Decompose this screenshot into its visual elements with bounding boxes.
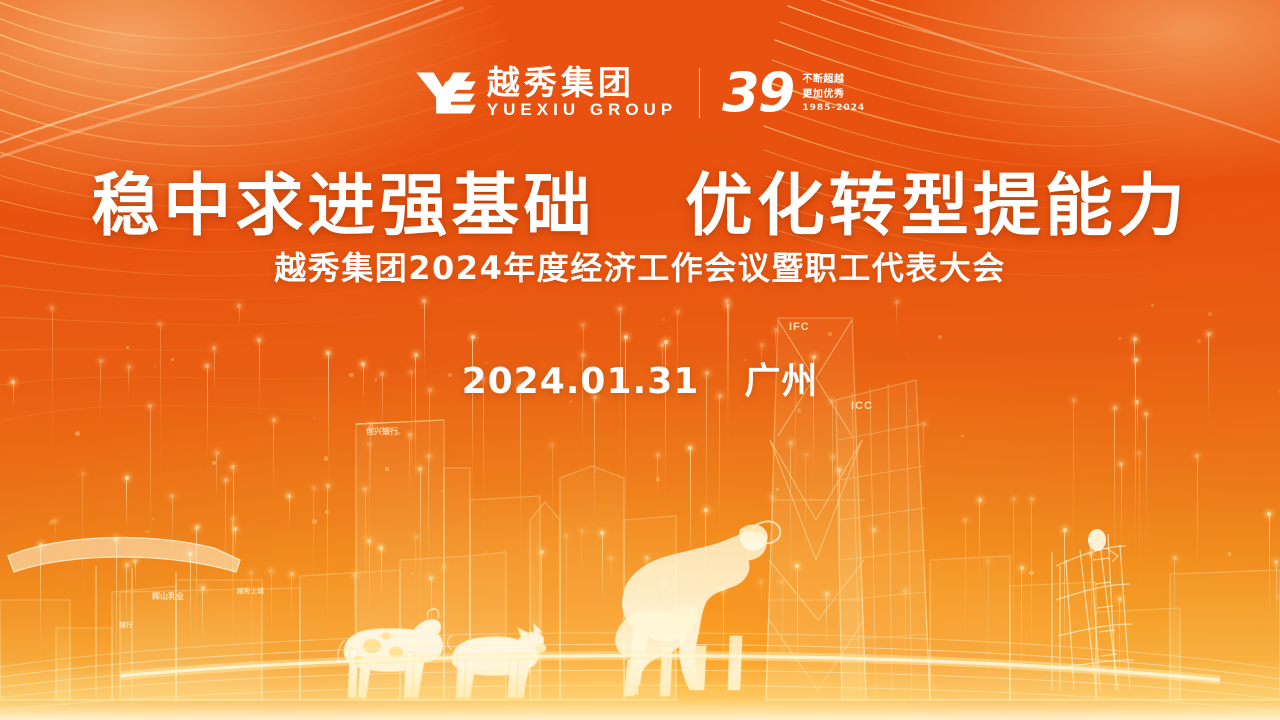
light-streak [126,565,127,661]
light-streak [873,530,874,585]
light-streak [690,448,691,617]
light-dot [776,488,779,491]
light-streak [369,541,370,638]
anniversary-number: 39 [722,69,793,118]
light-streak [719,396,720,570]
light-dot [196,524,200,528]
light-dot [961,435,964,438]
light-streak [1146,414,1147,563]
light-streak [369,444,370,596]
light-streak [135,561,136,595]
event-city: 广州 [744,361,818,402]
light-dot [656,477,661,482]
light-streak [313,488,314,624]
light-streak [235,529,236,556]
brand-name-en: YUEXIU GROUP [487,101,677,120]
light-dot [324,456,329,461]
light-streak [832,457,833,514]
light-streak [196,528,197,650]
light-dot [325,510,329,514]
light-streak [82,474,83,652]
light-streak [832,401,833,546]
light-streak [520,386,521,593]
light-streak [905,591,906,720]
brand-name-cn: 越秀集团 [487,66,677,100]
light-dot [146,530,150,534]
light-dot [1208,312,1212,316]
banner-canvas: IFC ICC 创兴银行 辉山乳业 越秀上城 越行 越秀集团 YUEXIU GR… [0,0,1280,720]
light-streak [271,571,272,657]
anniversary-badge: 39 不断超越 更加优秀 1985-2024 [722,69,865,118]
light-streak [782,582,783,720]
light-streak [839,470,840,647]
light-streak [896,302,897,337]
light-streak [541,552,542,720]
light-streak [1073,400,1074,615]
light-streak [805,455,806,658]
light-streak [790,443,791,650]
light-streak [1137,402,1138,449]
light-dot [810,498,812,500]
building-label-ifc: IFC [789,321,810,333]
light-dot [594,470,596,472]
light-streak [594,397,595,570]
light-streak [1269,514,1270,646]
light-dot [152,518,154,520]
light-dot [49,520,54,525]
light-streak [428,456,429,633]
light-streak [1064,530,1065,694]
light-dot [441,490,443,492]
light-dot [23,560,25,562]
yuexiu-logo: 越秀集团 YUEXIU GROUP [415,66,677,120]
light-streak [126,478,127,545]
light-streak [381,548,382,619]
brand-text-block: 越秀集团 YUEXIU GROUP [487,66,677,120]
light-streak [988,561,989,720]
light-dot [1197,339,1201,343]
ye-monogram-icon [415,70,477,116]
light-streak [55,521,56,551]
light-streak [705,510,706,640]
light-streak [965,520,966,684]
light-streak [160,324,161,495]
light-dot [212,461,216,465]
light-streak [327,486,328,663]
light-streak [552,445,553,563]
light-dot [662,318,665,321]
light-dot [938,335,942,339]
light-streak [657,455,658,523]
light-streak [761,582,762,614]
light-streak [602,533,603,623]
logo-divider [699,68,700,118]
light-streak [431,578,432,684]
light-streak [1021,568,1022,720]
light-streak [225,480,226,610]
event-date: 2024.01.31 [462,361,700,402]
light-streak [1197,456,1198,619]
light-streak [354,575,355,658]
light-dot [1119,337,1121,339]
event-subtitle: 越秀集团2024年度经济工作会议暨职工代表大会 [0,243,1280,289]
light-dot [385,467,388,470]
main-headline: 稳中求进强基础 优化转型提能力 [0,150,1280,249]
light-streak [443,567,444,649]
building-label-yuexing: 越行 [119,619,133,629]
light-streak [172,496,173,582]
anniversary-slogan: 不断超越 更加优秀 1985-2024 [802,71,865,114]
light-streak [216,453,217,517]
light-streak [1091,554,1092,700]
headline-part-2: 优化转型提能力 [685,167,1189,246]
light-dot [1029,571,1034,576]
light-streak [772,497,773,594]
light-streak [1121,464,1122,569]
light-dot [797,408,802,413]
light-streak [370,425,371,517]
light-streak [723,589,724,720]
light-streak [483,379,484,551]
light-streak [923,424,924,486]
light-streak [797,566,798,720]
light-dot [484,551,488,555]
light-streak [429,390,430,506]
light-streak [581,531,582,591]
light-streak [365,489,366,633]
light-dot [126,346,129,349]
light-streak [190,554,191,668]
building-label-chonghing-bank: 创兴银行 [366,426,398,437]
light-dot [579,477,581,479]
light-dot [312,519,316,523]
light-streak [409,435,410,516]
light-dot [411,572,414,575]
light-streak [1031,499,1032,712]
light-streak [116,539,117,720]
anniversary-years: 1985-2024 [802,103,865,114]
light-streak [663,583,664,720]
light-streak [239,306,240,332]
light-streak [420,469,421,653]
light-streak [611,558,612,589]
event-date-location: 2024.01.31 广州 [0,352,1280,404]
light-streak [1139,453,1140,609]
light-streak [566,536,567,698]
anniversary-slogan-line2: 更加优秀 [802,89,865,102]
headline-part-1: 稳中求进强基础 [91,167,595,246]
light-dot [677,556,680,559]
light-streak [646,558,647,695]
light-streak [150,406,151,596]
light-streak [1013,499,1014,709]
brand-logo-bar: 越秀集团 YUEXIU GROUP 39 不断超越 更加优秀 1985-2024 [0,66,1280,120]
light-streak [1276,562,1277,647]
light-streak [1119,599,1120,720]
light-dot [828,332,832,336]
light-streak [291,574,292,635]
light-streak [1174,558,1175,666]
building-label-yuexiu-shangcheng: 越秀上城 [237,585,264,595]
light-dot [1228,552,1232,556]
light-streak [1114,408,1115,616]
light-dot [75,431,80,436]
light-streak [202,588,203,665]
building-label-huishan-dairy: 辉山乳业 [152,591,184,602]
light-streak [415,537,416,606]
light-streak [233,467,234,663]
light-streak [826,594,827,665]
light-streak [40,545,41,683]
light-streak [273,420,274,513]
light-streak [232,519,233,683]
light-streak [289,496,290,533]
light-dot [1151,304,1154,307]
light-streak [979,500,980,596]
light-dot [908,409,912,413]
anniversary-slogan-line1: 不断超越 [802,74,865,87]
light-dot [313,417,316,420]
